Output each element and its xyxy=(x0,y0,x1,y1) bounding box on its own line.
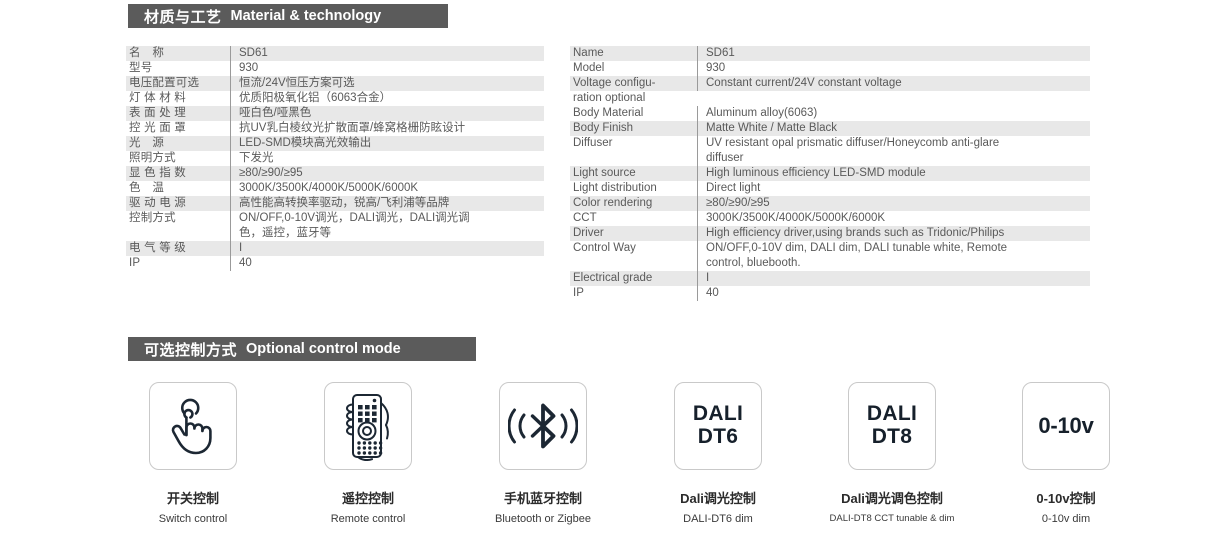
spec-cn-row-value: 优质阳极氧化铝（6063合金） xyxy=(230,91,544,106)
spec-cn-row-label: 名 称 xyxy=(126,46,230,61)
spec-en-row: DriverHigh efficiency driver,using brand… xyxy=(570,226,1090,241)
spec-en-row: Control WayON/OFF,0-10V dim, DALI dim, D… xyxy=(570,241,1090,271)
spec-cn-row-value: LED-SMD模块高光效输出 xyxy=(230,136,544,151)
spec-cn-row-label: 色 温 xyxy=(126,181,230,196)
control-mode-item: 开关控制Switch control xyxy=(118,382,268,525)
spec-cn-row-label: 驱 动 电 源 xyxy=(126,196,230,211)
spec-en-row-label: Light distribution xyxy=(570,181,697,196)
spec-cn-row-label: 表 面 处 理 xyxy=(126,106,230,121)
control-mode-icon-text: DALI DT6 xyxy=(693,403,743,448)
spec-en-row-value: ≥80/≥90/≥95 xyxy=(697,196,1090,211)
zero-to-ten-volt-icon: 0-10v xyxy=(1022,382,1110,470)
control-mode-item: 遥控控制Remote control xyxy=(293,382,443,525)
spec-en-row-value: 3000K/3500K/4000K/5000K/6000K xyxy=(697,211,1090,226)
spec-cn-row-label: 光 源 xyxy=(126,136,230,151)
spec-en-row-label: Driver xyxy=(570,226,697,241)
section-header-control-cn: 可选控制方式 xyxy=(144,339,237,360)
control-mode-item: 0-10v0-10v控制0-10v dim xyxy=(991,382,1141,525)
spec-cn-row-value: I xyxy=(230,241,544,256)
spec-cn-row: 型号930 xyxy=(126,61,544,76)
control-mode-label-en: DALI-DT8 CCT tunable & dim xyxy=(817,513,967,524)
section-header-materials: 材质与工艺 Material & technology xyxy=(128,4,448,28)
control-mode-item: DALI DT8Dali调光调色控制DALI-DT8 CCT tunable &… xyxy=(817,382,967,524)
control-mode-label-cn: 手机蓝牙控制 xyxy=(468,488,618,507)
spec-cn-row-value: ON/OFF,0-10V调光，DALI调光，DALI调光调 色，遥控，蓝牙等 xyxy=(230,211,544,241)
spec-cn-row-label: 照明方式 xyxy=(126,151,230,166)
spec-cn-row: 电 气 等 级I xyxy=(126,241,544,256)
spec-en-row-label: Name xyxy=(570,46,697,61)
spec-en-row-label: Electrical grade xyxy=(570,271,697,286)
spec-cn-row-label: IP xyxy=(126,256,230,271)
spec-cn-row: 控制方式ON/OFF,0-10V调光，DALI调光，DALI调光调 色，遥控，蓝… xyxy=(126,211,544,241)
spec-cn-row: 电压配置可选恒流/24V恒压方案可选 xyxy=(126,76,544,91)
spec-en-row: Voltage configu- ration optionalConstant… xyxy=(570,76,1090,106)
spec-en-row-label: Body Finish xyxy=(570,121,697,136)
spec-en-row-label: Color rendering xyxy=(570,196,697,211)
spec-cn-row: 灯 体 材 料优质阳极氧化铝（6063合金） xyxy=(126,91,544,106)
spec-en-row-label: IP xyxy=(570,286,697,301)
spec-cn-row-label: 型号 xyxy=(126,61,230,76)
control-mode-list: 开关控制Switch control遥控控制Remote control手机蓝牙… xyxy=(126,382,1086,532)
spec-cn-row-label: 控 光 面 罩 xyxy=(126,121,230,136)
control-mode-item: 手机蓝牙控制Bluetooth or Zigbee xyxy=(468,382,618,525)
spec-en-row-label: Model xyxy=(570,61,697,76)
spec-cn-row: IP40 xyxy=(126,256,544,271)
control-mode-label-cn: Dali调光控制 xyxy=(643,488,793,507)
spec-en-row-value: Aluminum alloy(6063) xyxy=(697,106,1090,121)
spec-cn-row-value: 40 xyxy=(230,256,544,271)
spec-cn-row-value: 下发光 xyxy=(230,151,544,166)
spec-en-row-label: Light source xyxy=(570,166,697,181)
spec-en-row-value: Matte White / Matte Black xyxy=(697,121,1090,136)
spec-cn-row: 驱 动 电 源高性能高转换率驱动，锐高/飞利浦等品牌 xyxy=(126,196,544,211)
spec-table-english: NameSD61Model930Voltage configu- ration … xyxy=(570,46,1090,301)
spec-en-row: Color rendering≥80/≥90/≥95 xyxy=(570,196,1090,211)
spec-cn-row: 照明方式下发光 xyxy=(126,151,544,166)
spec-cn-row: 控 光 面 罩抗UV乳白棱纹光扩散面罩/蜂窝格栅防眩设计 xyxy=(126,121,544,136)
touch-tap-icon xyxy=(149,382,237,470)
bluetooth-signal-icon xyxy=(499,382,587,470)
spec-cn-row-label: 灯 体 材 料 xyxy=(126,91,230,106)
spec-en-row-value: Direct light xyxy=(697,181,1090,196)
spec-en-row-value: 40 xyxy=(697,286,1090,301)
spec-en-row: Light distributionDirect light xyxy=(570,181,1090,196)
spec-en-row: Model930 xyxy=(570,61,1090,76)
hand-remote-icon xyxy=(324,382,412,470)
control-mode-label-cn: Dali调光调色控制 xyxy=(817,488,967,507)
control-mode-label-cn: 0-10v控制 xyxy=(991,488,1141,507)
spec-en-row-label: Body Material xyxy=(570,106,697,121)
spec-cn-row: 名 称SD61 xyxy=(126,46,544,61)
spec-cn-row-value: 恒流/24V恒压方案可选 xyxy=(230,76,544,91)
dali-dt6-icon: DALI DT6 xyxy=(674,382,762,470)
spec-en-row-value: 930 xyxy=(697,61,1090,76)
spec-cn-row-value: 哑白色/哑黑色 xyxy=(230,106,544,121)
spec-en-row-label: Control Way xyxy=(570,241,697,256)
spec-table-chinese: 名 称SD61型号930电压配置可选恒流/24V恒压方案可选灯 体 材 料优质阳… xyxy=(126,46,544,271)
section-header-materials-en: Material & technology xyxy=(231,8,382,24)
control-mode-label-en: Bluetooth or Zigbee xyxy=(468,513,618,525)
spec-cn-row: 表 面 处 理哑白色/哑黑色 xyxy=(126,106,544,121)
spec-en-row-label: Diffuser xyxy=(570,136,697,151)
spec-en-row-label: CCT xyxy=(570,211,697,226)
spec-en-row-label: Voltage configu- ration optional xyxy=(570,76,697,106)
spec-en-row-value: High efficiency driver,using brands such… xyxy=(697,226,1090,241)
spec-cn-row: 光 源LED-SMD模块高光效输出 xyxy=(126,136,544,151)
spec-cn-row-value: 高性能高转换率驱动，锐高/飞利浦等品牌 xyxy=(230,196,544,211)
control-mode-item: DALI DT6Dali调光控制DALI-DT6 dim xyxy=(643,382,793,525)
spec-cn-row-label: 显 色 指 数 xyxy=(126,166,230,181)
control-mode-label-cn: 开关控制 xyxy=(118,488,268,507)
spec-cn-row: 显 色 指 数≥80/≥90/≥95 xyxy=(126,166,544,181)
spec-en-row-value: Constant current/24V constant voltage xyxy=(697,76,1090,91)
spec-en-row: Light sourceHigh luminous efficiency LED… xyxy=(570,166,1090,181)
spec-cn-row: 色 温3000K/3500K/4000K/5000K/6000K xyxy=(126,181,544,196)
control-mode-icon-text: DALI DT8 xyxy=(867,403,917,448)
spec-en-row: Body MaterialAluminum alloy(6063) xyxy=(570,106,1090,121)
control-mode-label-en: Remote control xyxy=(293,513,443,525)
spec-en-row-value: SD61 xyxy=(697,46,1090,61)
spec-cn-row-label: 电 气 等 级 xyxy=(126,241,230,256)
control-mode-label-cn: 遥控控制 xyxy=(293,488,443,507)
spec-cn-row-label: 控制方式 xyxy=(126,211,230,226)
spec-cn-row-value: SD61 xyxy=(230,46,544,61)
section-header-control-mode: 可选控制方式 Optional control mode xyxy=(128,337,476,361)
section-header-materials-cn: 材质与工艺 xyxy=(144,6,222,27)
spec-cn-row-value: 930 xyxy=(230,61,544,76)
control-mode-icon-text: 0-10v xyxy=(1038,413,1093,439)
spec-en-row: Body FinishMatte White / Matte Black xyxy=(570,121,1090,136)
control-mode-label-en: Switch control xyxy=(118,513,268,525)
spec-en-row: NameSD61 xyxy=(570,46,1090,61)
spec-sheet-page: 材质与工艺 Material & technology 名 称SD61型号930… xyxy=(0,0,1206,542)
control-mode-label-en: 0-10v dim xyxy=(991,513,1141,525)
dali-dt8-icon: DALI DT8 xyxy=(848,382,936,470)
spec-en-row: DiffuserUV resistant opal prismatic diff… xyxy=(570,136,1090,166)
spec-cn-row-value: ≥80/≥90/≥95 xyxy=(230,166,544,181)
control-mode-label-en: DALI-DT6 dim xyxy=(643,513,793,525)
spec-en-row-value: I xyxy=(697,271,1090,286)
section-header-control-en: Optional control mode xyxy=(246,341,401,357)
spec-cn-row-label: 电压配置可选 xyxy=(126,76,230,91)
spec-en-row-value: UV resistant opal prismatic diffuser/Hon… xyxy=(697,136,1090,166)
spec-en-row-value: High luminous efficiency LED-SMD module xyxy=(697,166,1090,181)
spec-en-row: Electrical gradeI xyxy=(570,271,1090,286)
spec-en-row-value: ON/OFF,0-10V dim, DALI dim, DALI tunable… xyxy=(697,241,1090,271)
spec-en-row: IP40 xyxy=(570,286,1090,301)
spec-cn-row-value: 抗UV乳白棱纹光扩散面罩/蜂窝格栅防眩设计 xyxy=(230,121,544,136)
spec-cn-row-value: 3000K/3500K/4000K/5000K/6000K xyxy=(230,181,544,196)
spec-en-row: CCT3000K/3500K/4000K/5000K/6000K xyxy=(570,211,1090,226)
